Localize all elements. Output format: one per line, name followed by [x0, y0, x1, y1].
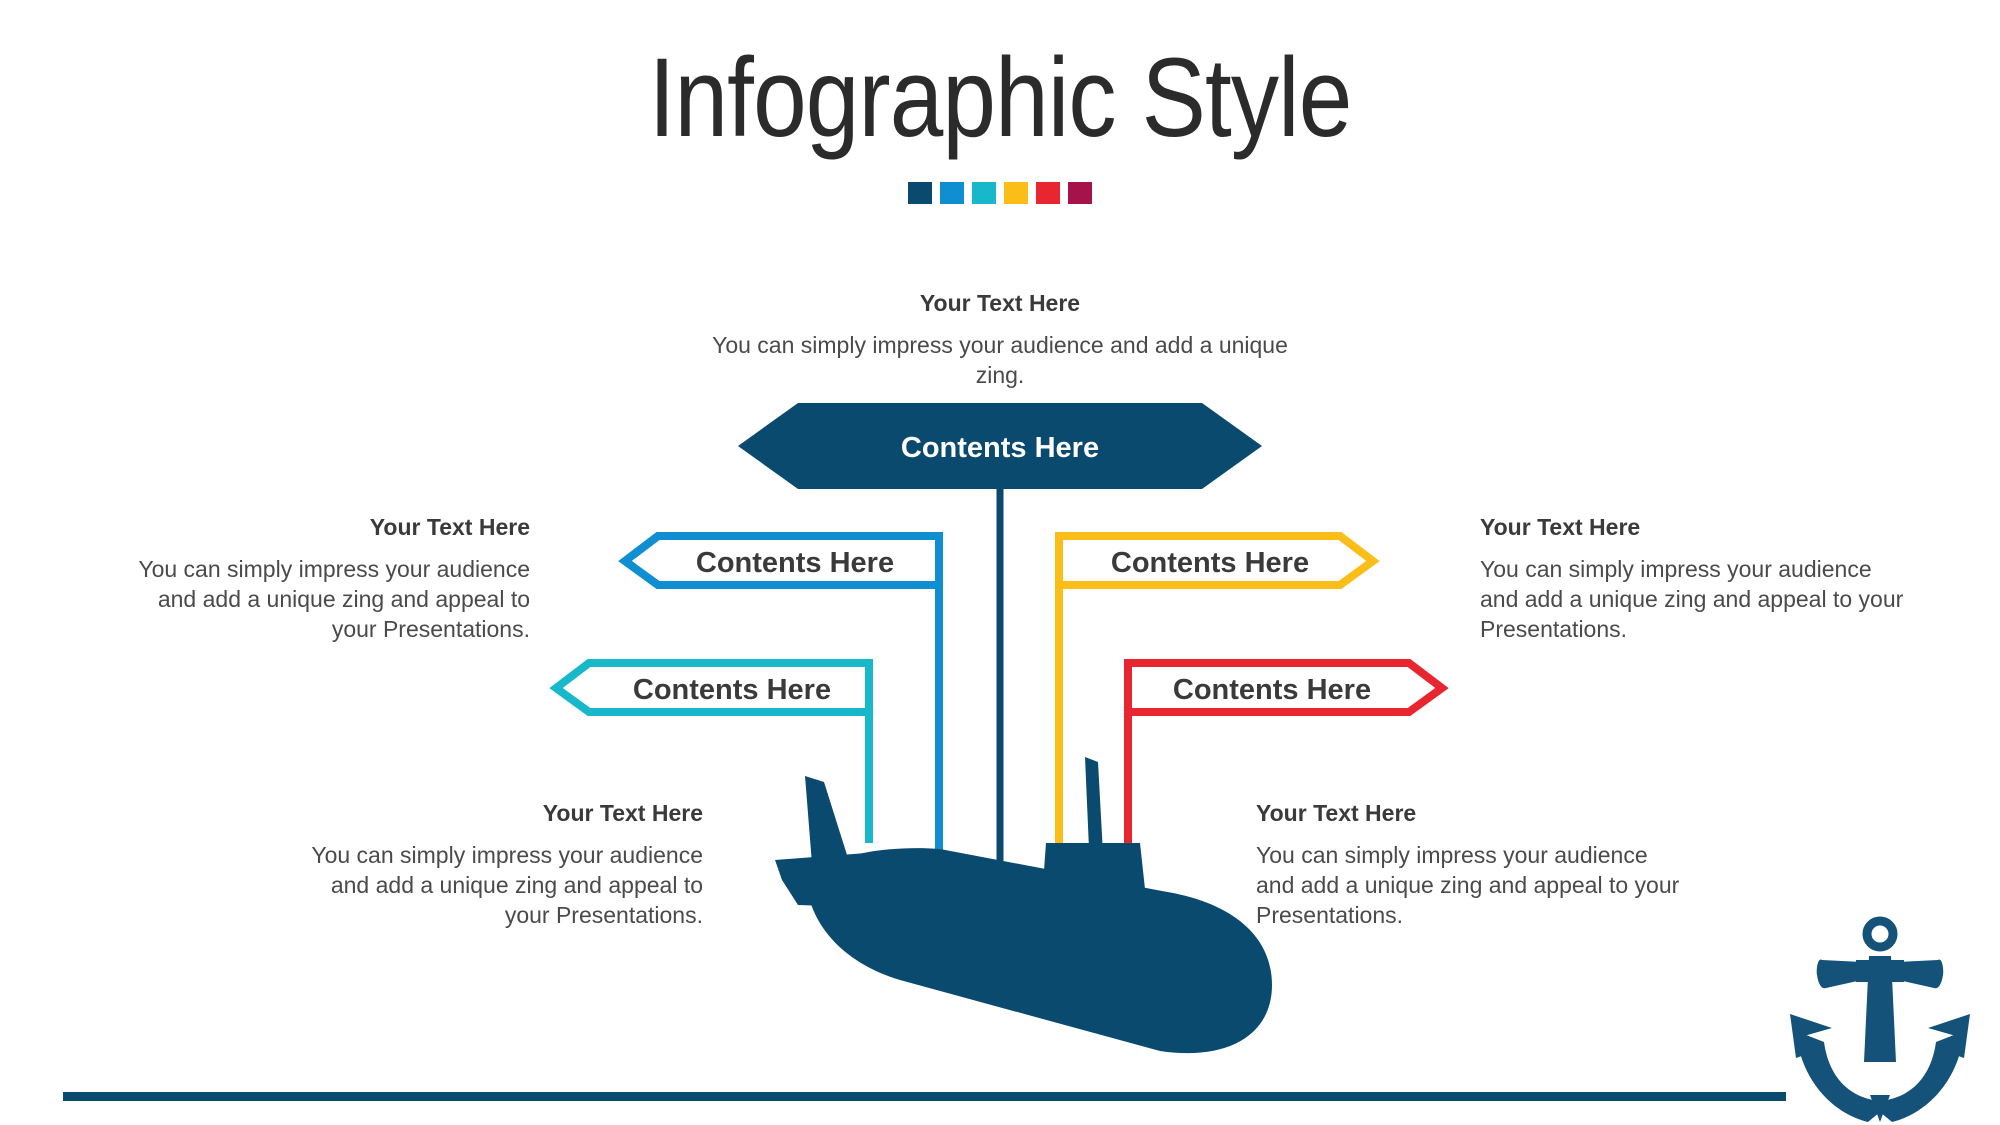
text-block-left-lower-heading: Your Text Here	[283, 798, 703, 828]
text-block-left-lower: Your Text Here You can simply impress yo…	[283, 798, 703, 930]
text-block-right-upper-body: You can simply impress your audience and…	[1480, 554, 1910, 644]
text-block-left-upper: Your Text Here You can simply impress yo…	[110, 512, 530, 644]
anchor-icon	[1790, 921, 1970, 1122]
submarine-hull	[806, 848, 1272, 1053]
bottom-rule	[63, 1092, 1786, 1101]
banner-right-lower[interactable]: Contents Here	[1128, 663, 1442, 712]
text-block-right-lower-heading: Your Text Here	[1256, 798, 1686, 828]
text-block-left-upper-body: You can simply impress your audience and…	[110, 554, 530, 644]
text-block-top: Your Text Here You can simply impress yo…	[700, 288, 1300, 390]
banner-left-lower-label: Contents Here	[633, 674, 831, 706]
submarine-illustration	[775, 757, 1272, 1053]
text-block-top-heading: Your Text Here	[700, 288, 1300, 318]
slide-canvas: Infographic Style Contents Here	[0, 0, 2000, 1125]
text-block-top-body: You can simply impress your audience and…	[700, 330, 1300, 390]
text-block-right-lower: Your Text Here You can simply impress yo…	[1256, 798, 1686, 930]
banner-left-lower[interactable]: Contents Here	[556, 663, 869, 712]
banner-left-upper-label: Contents Here	[696, 547, 894, 579]
banner-top-label: Contents Here	[901, 432, 1099, 464]
text-block-left-upper-heading: Your Text Here	[110, 512, 530, 542]
text-block-right-lower-body: You can simply impress your audience and…	[1256, 840, 1686, 930]
text-block-left-lower-body: You can simply impress your audience and…	[283, 840, 703, 930]
banner-right-lower-label: Contents Here	[1173, 674, 1371, 706]
banner-right-upper-label: Contents Here	[1111, 547, 1309, 579]
text-block-right-upper-heading: Your Text Here	[1480, 512, 1910, 542]
banner-right-upper[interactable]: Contents Here	[1059, 536, 1373, 585]
banner-top[interactable]: Contents Here	[738, 403, 1262, 489]
text-block-right-upper: Your Text Here You can simply impress yo…	[1480, 512, 1910, 644]
banner-left-upper[interactable]: Contents Here	[625, 536, 939, 585]
